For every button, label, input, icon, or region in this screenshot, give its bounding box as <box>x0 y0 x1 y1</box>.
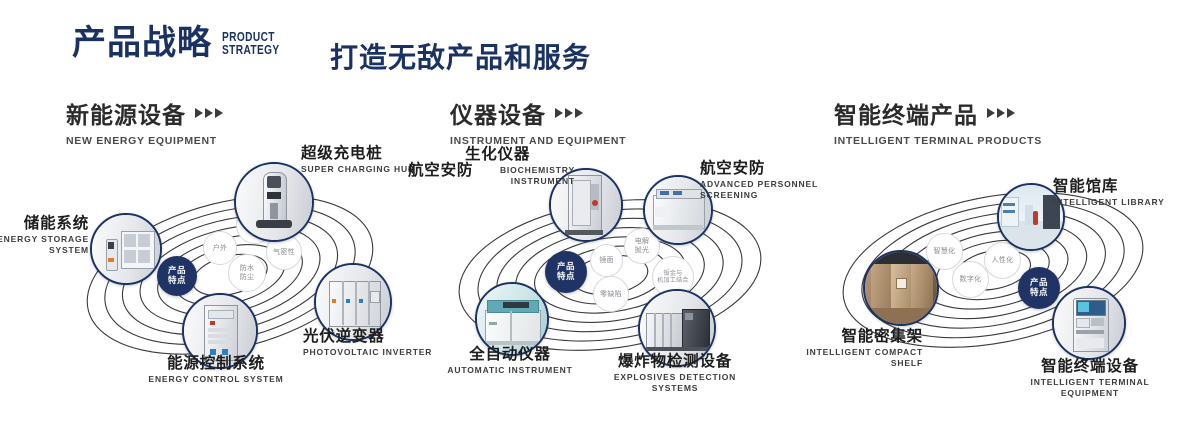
section-title-cn: 新能源设备 <box>66 96 186 130</box>
section-title-en: NEW ENERGY EQUIPMENT <box>66 135 223 147</box>
caption-energy-storage: 储能系统 ENERGY STORAGE SYSTEM <box>0 215 89 256</box>
caption-compact-shelf: 智能密集架 INTELLIGENT COMPACT SHELF <box>773 328 923 369</box>
section-title-cn: 智能终端产品 <box>834 96 978 130</box>
cluster-instrument: 产品 特点 镜面 电解 抛光 零缺陷 钣金与 机加工结合 生化仪器 BIOCHE… <box>430 150 790 400</box>
charging-pile-icon <box>236 164 312 240</box>
caption-aviation-security-left: 航空安防 <box>408 162 498 179</box>
cluster-intelligent-terminal: 产品 特点 智慧化 数字化 人性化 智能馆库 INTELLIGENT LIBRA… <box>815 150 1175 400</box>
feature-bubble-waterproof: 防水 防尘 <box>228 254 266 292</box>
node-compact-shelf[interactable] <box>863 250 939 326</box>
section-heading-intelligent: 智能终端产品 INTELLIGENT TERMINAL PRODUCTS <box>834 96 1042 147</box>
node-terminal-equipment[interactable] <box>1052 286 1126 360</box>
page-subtitle: 打造无敌产品和服务 <box>330 36 591 76</box>
caption-explosives-detection: 爆炸物检测设备 EXPLOSIVES DETECTION SYSTEMS <box>590 353 760 394</box>
caption-terminal-equipment: 智能终端设备 INTELLIGENT TERMINAL EQUIPMENT <box>1005 358 1175 399</box>
chevron-triple-icon <box>195 108 223 118</box>
core-bubble-instrument: 产品 特点 <box>545 251 587 293</box>
cluster-new-energy: 产品 特点 户外 防腐 防锈 防水 防尘 气密性 储能系统 ENERGY STO… <box>55 150 405 400</box>
chevron-triple-icon <box>987 108 1015 118</box>
caption-energy-control: 能源控制系统 ENERGY CONTROL SYSTEM <box>91 355 341 385</box>
automatic-instrument-icon <box>477 284 547 354</box>
section-heading-new-energy: 新能源设备 NEW ENERGY EQUIPMENT <box>66 96 223 147</box>
caption-automatic-instrument: 全自动仪器 AUTOMATIC INSTRUMENT <box>425 346 595 376</box>
feature-bubble-zero-defect: 零缺陷 <box>593 276 629 312</box>
feature-bubble-digitalization: 数字化 <box>952 261 989 298</box>
energy-storage-cabinet-icon <box>92 215 160 283</box>
poster-canvas: 产品战略 PRODUCT STRATEGY 打造无敌产品和服务 新能源设备 NE… <box>0 0 1200 422</box>
page-title: 产品战略 <box>72 26 212 60</box>
section-title-en: INTELLIGENT TERMINAL PRODUCTS <box>834 135 1042 147</box>
page-title-en: PRODUCT STRATEGY <box>222 30 280 57</box>
section-heading-instrument: 仪器设备 INSTRUMENT AND EQUIPMENT <box>450 96 626 147</box>
compact-shelf-icon <box>865 252 937 324</box>
section-title-cn: 仪器设备 <box>450 96 546 130</box>
self-service-kiosk-icon <box>1054 288 1124 358</box>
core-bubble-new-energy: 产品 特点 <box>157 256 197 296</box>
caption-intelligent-library: 智能馆库 INTELLIGENT LIBRARY <box>1053 178 1200 208</box>
poster-header: 产品战略 PRODUCT STRATEGY <box>72 26 296 60</box>
node-energy-storage[interactable] <box>90 213 162 285</box>
feature-bubble-mirror: 镜面 <box>590 244 623 277</box>
chevron-triple-icon <box>555 108 583 118</box>
